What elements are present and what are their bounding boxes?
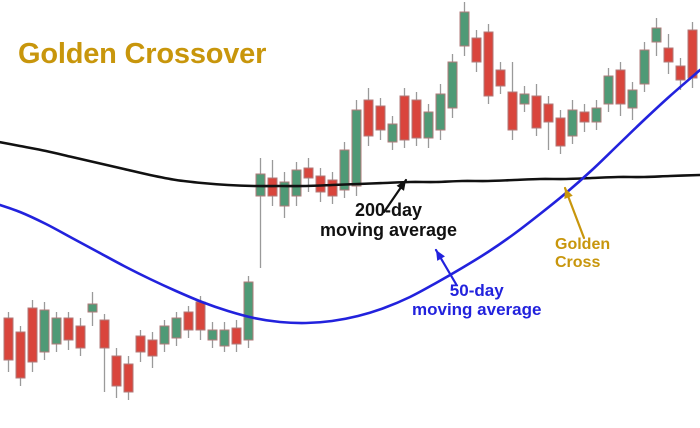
candle-body-bearish xyxy=(532,96,541,128)
candlestick xyxy=(208,322,217,348)
candle-body-bullish xyxy=(604,76,613,104)
candle-body-bearish xyxy=(472,38,481,62)
candle-body-bearish xyxy=(112,356,121,386)
candle-body-bearish xyxy=(616,70,625,104)
candlestick xyxy=(448,54,457,118)
candle-body-bearish xyxy=(376,106,385,130)
candle-body-bullish xyxy=(160,326,169,344)
candlestick xyxy=(520,86,529,112)
candlestick xyxy=(604,68,613,112)
candlestick xyxy=(484,24,493,104)
golden-crossover-chart: Golden Crossover 200-day moving average … xyxy=(0,0,700,428)
candlestick xyxy=(184,306,193,338)
candle-body-bearish xyxy=(496,70,505,86)
candlestick xyxy=(664,34,673,74)
candle-body-bullish xyxy=(448,62,457,108)
candlestick xyxy=(40,302,49,360)
candlestick xyxy=(424,104,433,148)
ma200-label-line2: moving average xyxy=(320,220,457,240)
candle-body-bearish xyxy=(364,100,373,136)
candlestick xyxy=(412,92,421,146)
candle-body-bullish xyxy=(628,90,637,108)
candle-body-bearish xyxy=(124,364,133,392)
candle-body-bearish xyxy=(304,168,313,178)
candle-body-bearish xyxy=(4,318,13,360)
candle-body-bearish xyxy=(316,176,325,192)
candle-body-bearish xyxy=(508,92,517,130)
candlestick xyxy=(124,356,133,400)
candle-body-bearish xyxy=(412,100,421,138)
candle-body-bearish xyxy=(148,340,157,356)
candle-body-bullish xyxy=(436,94,445,130)
candle-body-bearish xyxy=(28,308,37,362)
candle-body-bullish xyxy=(352,110,361,186)
candlestick xyxy=(280,172,289,218)
candlestick xyxy=(352,100,361,196)
candlestick xyxy=(136,330,145,362)
candle-body-bullish xyxy=(88,304,97,312)
candlestick xyxy=(400,88,409,148)
candlestick xyxy=(652,18,661,56)
candle-body-bearish xyxy=(76,326,85,348)
candle-body-bearish xyxy=(544,104,553,122)
candlestick xyxy=(88,292,97,326)
candle-body-bearish xyxy=(484,32,493,96)
golden-cross-label-line2: Cross xyxy=(555,254,610,272)
candle-body-bearish xyxy=(328,180,337,196)
candle-body-bullish xyxy=(640,50,649,84)
ma200-line xyxy=(0,141,700,186)
ma50-label-line2: moving average xyxy=(412,300,541,319)
candlestick xyxy=(376,98,385,140)
candlestick xyxy=(340,142,349,198)
candlestick xyxy=(544,96,553,150)
candle-body-bearish xyxy=(184,312,193,330)
candlestick xyxy=(160,320,169,352)
candle-body-bullish xyxy=(292,170,301,196)
candlestick xyxy=(100,314,109,392)
candlestick xyxy=(460,2,469,56)
candle-body-bearish xyxy=(196,302,205,330)
candlestick xyxy=(532,84,541,136)
candlestick xyxy=(16,326,25,386)
candle-body-bullish xyxy=(220,330,229,346)
candle-body-bearish xyxy=(16,332,25,378)
candlestick xyxy=(64,312,73,350)
candle-body-bearish xyxy=(400,96,409,140)
candlestick xyxy=(436,84,445,140)
candlestick xyxy=(256,158,265,268)
candle-body-bullish xyxy=(460,12,469,46)
candle-body-bearish xyxy=(688,30,697,78)
candle-body-bullish xyxy=(52,318,61,344)
ma50-annotation-label: 50-day moving average xyxy=(412,281,541,319)
candle-body-bullish xyxy=(40,310,49,352)
candlestick xyxy=(616,62,625,116)
candlestick xyxy=(640,42,649,92)
candle-body-bullish xyxy=(424,112,433,138)
ma50-label-line1: 50-day xyxy=(412,281,541,300)
candlestick xyxy=(364,88,373,146)
candlestick xyxy=(148,332,157,368)
candlestick xyxy=(52,312,61,352)
candle-body-bearish xyxy=(64,318,73,340)
candlestick xyxy=(496,62,505,94)
candlestick xyxy=(508,62,517,140)
ma200-label-line1: 200-day xyxy=(320,200,457,220)
candle-body-bullish xyxy=(244,282,253,340)
page-title: Golden Crossover xyxy=(18,38,266,71)
ma200-annotation-label: 200-day moving average xyxy=(320,200,457,240)
candle-body-bearish xyxy=(136,336,145,352)
candlestick xyxy=(592,100,601,130)
candlestick xyxy=(292,162,301,206)
candlestick xyxy=(76,318,85,356)
candlestick xyxy=(556,110,565,154)
candle-body-bullish xyxy=(520,94,529,104)
candlestick xyxy=(388,116,397,150)
candle-body-bearish xyxy=(556,118,565,146)
candlestick xyxy=(580,104,589,132)
candle-body-bullish xyxy=(652,28,661,42)
candlestick xyxy=(220,322,229,352)
candlestick xyxy=(172,312,181,346)
candlestick xyxy=(472,30,481,72)
candlestick xyxy=(28,300,37,372)
candle-body-bullish xyxy=(592,108,601,122)
candlestick xyxy=(232,320,241,352)
candle-body-bearish xyxy=(580,112,589,122)
ma50-annotation-arrow xyxy=(436,250,456,284)
candlestick xyxy=(4,312,13,372)
candle-body-bearish xyxy=(664,48,673,62)
golden-cross-annotation-label: Golden Cross xyxy=(555,236,610,272)
candle-body-bearish xyxy=(676,66,685,80)
candle-body-bearish xyxy=(100,320,109,348)
candle-body-bullish xyxy=(208,330,217,340)
golden-cross-annotation-arrow xyxy=(564,188,584,238)
candle-body-bullish xyxy=(568,110,577,136)
candle-body-bullish xyxy=(388,124,397,142)
candlestick xyxy=(568,100,577,144)
candle-body-bullish xyxy=(172,318,181,338)
golden-cross-label-line1: Golden xyxy=(555,236,610,254)
candle-body-bearish xyxy=(232,328,241,344)
candlestick xyxy=(628,82,637,120)
candlestick xyxy=(112,348,121,398)
candlestick xyxy=(244,276,253,348)
candlestick xyxy=(268,160,277,206)
